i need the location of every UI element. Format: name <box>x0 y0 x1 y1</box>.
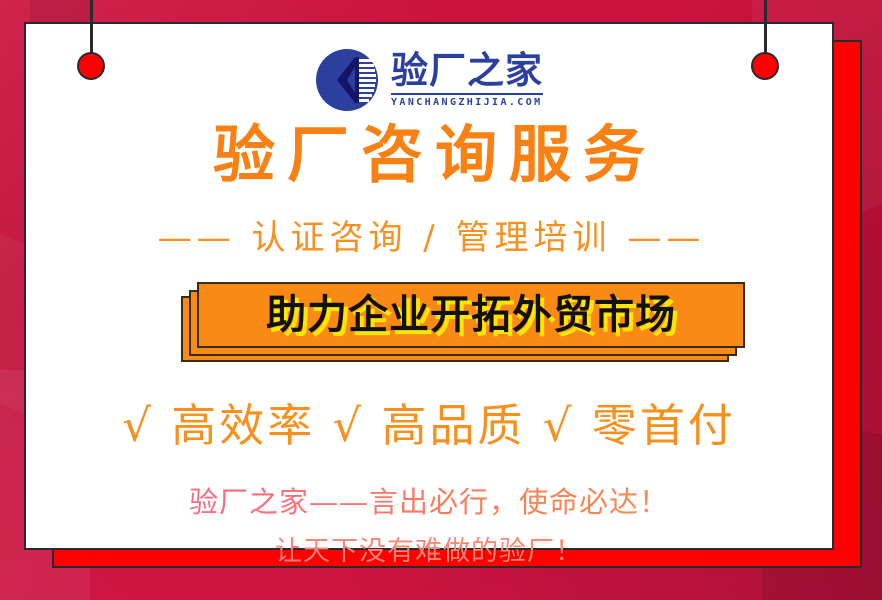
content-card: 验厂之家 YANCHANGZHIJIA.COM 验厂咨询服务 —— 认证咨询 /… <box>24 22 834 550</box>
brand-domain: YANCHANGZHIJIA.COM <box>391 93 543 108</box>
promotional-poster: 验厂之家 YANCHANGZHIJIA.COM 验厂咨询服务 —— 认证咨询 /… <box>0 0 882 600</box>
yanchangzhijia-circle-logo-icon <box>315 48 379 112</box>
banner-front-layer: 助力企业开拓外贸市场 <box>197 282 745 348</box>
slogan-primary: 验厂之家——言出必行，使命必达！ <box>26 486 832 519</box>
headline: 验厂咨询服务 <box>26 124 832 186</box>
ornament-ball-icon <box>77 52 105 80</box>
brand-logo-text: 验厂之家 YANCHANGZHIJIA.COM <box>391 52 543 109</box>
hanging-ball-ornament-right <box>751 0 779 92</box>
brand-name-cn: 验厂之家 <box>391 52 543 90</box>
feature-list: √ 高效率 √ 高品质 √ 零首付 <box>26 402 832 449</box>
banner-text: 助力企业开拓外贸市场 <box>266 295 676 335</box>
brand-logo: 验厂之家 YANCHANGZHIJIA.COM <box>26 48 832 112</box>
hanging-ball-ornament-left <box>77 0 105 92</box>
slogan-secondary: 让天下没有难做的验厂！ <box>26 536 832 567</box>
subtitle: —— 认证咨询 / 管理培训 —— <box>26 220 832 257</box>
highlight-banner: 助力企业开拓外贸市场 <box>181 282 741 374</box>
ornament-ball-icon <box>751 52 779 80</box>
